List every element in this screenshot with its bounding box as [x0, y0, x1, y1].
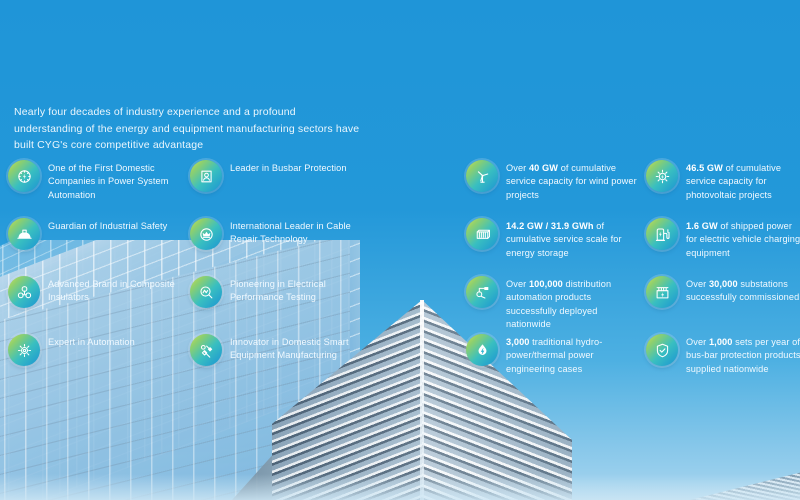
wind-turbine-icon — [466, 160, 498, 192]
tower-corner-ridge — [420, 300, 424, 500]
banner-stage: Nearly four decades of industry experien… — [0, 0, 800, 500]
list-item[interactable]: Advanced Brand in Composite Insulators — [8, 276, 188, 318]
gear-power-icon — [8, 160, 40, 192]
list-item[interactable]: Guardian of Industrial Safety — [8, 218, 188, 260]
list-item-label: 14.2 GW / 31.9 GWh of cumulative service… — [506, 218, 644, 260]
list-item[interactable]: Over 100,000 distribution automation pro… — [466, 276, 644, 318]
list-item-label: Over 1,000 sets per year of bus-bar prot… — [686, 334, 800, 376]
column-metrics-right: 46.5 GW of cumulative service capacity f… — [646, 160, 800, 392]
column-qualifications-left: One of the First Domestic Companies in P… — [8, 160, 188, 392]
list-item-label: Guardian of Industrial Safety — [48, 218, 167, 233]
busbar-protection-icon — [190, 160, 222, 192]
list-item[interactable]: Over 1,000 sets per year of bus-bar prot… — [646, 334, 800, 376]
hard-hat-icon — [8, 218, 40, 250]
metric-value: 40 GW — [529, 163, 558, 173]
list-item[interactable]: Leader in Busbar Protection — [190, 160, 370, 202]
metric-value: 14.2 GW / 31.9 GWh — [506, 221, 594, 231]
list-item-label: 46.5 GW of cumulative service capacity f… — [686, 160, 800, 202]
intro-paragraph: Nearly four decades of industry experien… — [14, 104, 364, 154]
distribution-automation-icon — [466, 276, 498, 308]
list-item-label: Over 30,000 substations successfully com… — [686, 276, 800, 305]
crown-badge-icon — [190, 218, 222, 250]
list-item-label: Pioneering in Electrical Performance Tes… — [230, 276, 370, 305]
column-metrics-mid: Over 40 GW of cumulative service capacit… — [466, 160, 644, 392]
smart-equipment-icon — [190, 334, 222, 366]
list-item-label: One of the First Domestic Companies in P… — [48, 160, 188, 202]
list-item[interactable]: Over 30,000 substations successfully com… — [646, 276, 800, 318]
metric-value: 1.6 GW — [686, 221, 718, 231]
list-item[interactable]: Expert in Automation — [8, 334, 188, 376]
list-item-label: Advanced Brand in Composite Insulators — [48, 276, 188, 305]
metric-value: 1,000 — [709, 337, 733, 347]
energy-storage-icon — [466, 218, 498, 250]
list-item[interactable]: 46.5 GW of cumulative service capacity f… — [646, 160, 800, 202]
metric-prefix: Over — [686, 337, 709, 347]
list-item[interactable]: International Leader in Cable Repair Tec… — [190, 218, 370, 260]
photovoltaic-sun-icon — [646, 160, 678, 192]
composite-insulator-icon — [8, 276, 40, 308]
shield-check-icon — [646, 334, 678, 366]
metric-value: 30,000 — [709, 279, 738, 289]
automation-gear-icon — [8, 334, 40, 366]
list-item-label: Expert in Automation — [48, 334, 135, 349]
metric-value: 3,000 — [506, 337, 530, 347]
metric-prefix: Over — [686, 279, 709, 289]
list-item-label: International Leader in Cable Repair Tec… — [230, 218, 370, 247]
list-item-label: Leader in Busbar Protection — [230, 160, 347, 175]
column-qualifications-mid: Leader in Busbar Protection Internationa… — [190, 160, 370, 392]
substation-icon — [646, 276, 678, 308]
list-item[interactable]: Pioneering in Electrical Performance Tes… — [190, 276, 370, 318]
metric-prefix: Over — [506, 163, 529, 173]
list-item[interactable]: 14.2 GW / 31.9 GWh of cumulative service… — [466, 218, 644, 260]
list-item[interactable]: Over 40 GW of cumulative service capacit… — [466, 160, 644, 202]
waveform-magnifier-icon — [190, 276, 222, 308]
list-item[interactable]: 3,000 traditional hydro-power/thermal po… — [466, 334, 644, 376]
list-item-label: Over 100,000 distribution automation pro… — [506, 276, 644, 332]
metric-value: 100,000 — [529, 279, 563, 289]
list-item-label: 1.6 GW of shipped power for electric veh… — [686, 218, 800, 260]
ground-haze — [0, 474, 800, 500]
list-item-label: 3,000 traditional hydro-power/thermal po… — [506, 334, 644, 376]
list-item[interactable]: One of the First Domestic Companies in P… — [8, 160, 188, 202]
list-item-label: Innovator in Domestic Smart Equipment Ma… — [230, 334, 370, 363]
ev-charger-icon — [646, 218, 678, 250]
list-item-label: Over 40 GW of cumulative service capacit… — [506, 160, 644, 202]
list-item[interactable]: Innovator in Domestic Smart Equipment Ma… — [190, 334, 370, 376]
list-item[interactable]: 1.6 GW of shipped power for electric veh… — [646, 218, 800, 260]
metric-prefix: Over — [506, 279, 529, 289]
metric-value: 46.5 GW — [686, 163, 723, 173]
hydro-thermal-icon — [466, 334, 498, 366]
